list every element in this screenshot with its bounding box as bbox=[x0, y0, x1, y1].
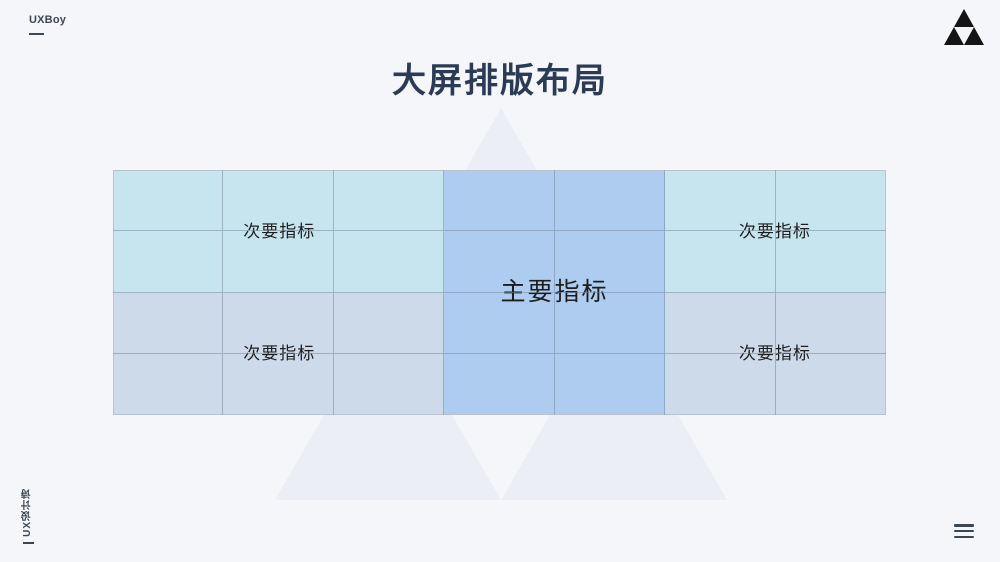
brand-underline-rule bbox=[29, 33, 44, 35]
layout-grid-diagram: 次要指标 主要指标 次要指标 次要指标 次要指标 bbox=[113, 170, 886, 415]
page-title: 大屏排版布局 bbox=[0, 57, 1000, 105]
slide-canvas: UXBoy 大屏排版布局 次要指标 主要指标 次要指标 次要指标 次要指标 bbox=[0, 0, 1000, 562]
triangle-trio-logo-icon bbox=[944, 9, 984, 45]
grid-block-secondary-bottom-right[interactable]: 次要指标 bbox=[665, 293, 885, 415]
grid-block-label: 次要指标 bbox=[243, 345, 315, 362]
footer-caption-text: UX设计诗 bbox=[22, 488, 34, 537]
grid-block-label: 次要指标 bbox=[739, 223, 811, 240]
grid-block-secondary-bottom-left[interactable]: 次要指标 bbox=[114, 293, 444, 415]
footer-caption: UX设计诗 bbox=[22, 488, 34, 544]
grid-block-label: 次要指标 bbox=[739, 345, 811, 362]
hamburger-menu-icon[interactable] bbox=[954, 524, 974, 538]
menu-bar bbox=[954, 530, 974, 533]
grid-block-secondary-top-right[interactable]: 次要指标 bbox=[665, 171, 885, 293]
menu-bar bbox=[954, 524, 974, 527]
footer-caption-rule bbox=[23, 542, 34, 544]
menu-bar bbox=[954, 536, 974, 539]
grid-block-label: 次要指标 bbox=[243, 223, 315, 240]
grid-block-primary-center[interactable]: 主要指标 bbox=[444, 171, 664, 414]
grid-block-label: 主要指标 bbox=[501, 280, 609, 305]
brand-text: UXBoy bbox=[29, 14, 66, 27]
brand-wordmark: UXBoy bbox=[29, 14, 66, 35]
grid-block-secondary-top-left[interactable]: 次要指标 bbox=[114, 171, 444, 293]
